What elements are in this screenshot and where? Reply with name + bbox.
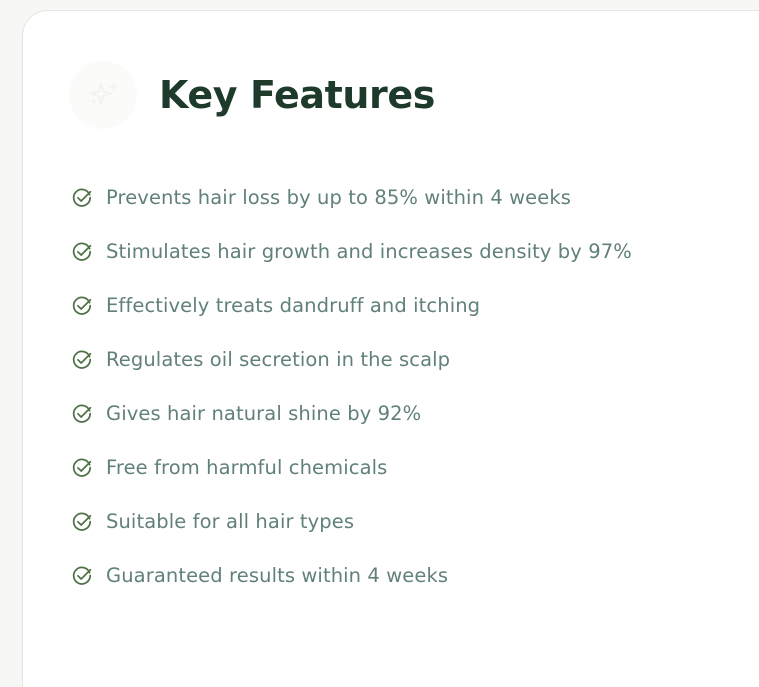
circle-check-icon (71, 565, 93, 587)
circle-check-icon (71, 187, 93, 209)
feature-text: Stimulates hair growth and increases den… (106, 240, 632, 263)
list-item: Regulates oil secretion in the scalp (71, 333, 731, 387)
list-item: Guaranteed results within 4 weeks (71, 549, 731, 603)
list-item: Effectively treats dandruff and itching (71, 279, 731, 333)
list-item: Gives hair natural shine by 92% (71, 387, 731, 441)
circle-check-icon (71, 403, 93, 425)
key-features-card: Key Features Prevents hair loss by up to… (22, 10, 759, 687)
circle-check-icon (71, 241, 93, 263)
feature-list: Prevents hair loss by up to 85% within 4… (71, 171, 731, 603)
circle-check-icon (71, 457, 93, 479)
list-item: Stimulates hair growth and increases den… (71, 225, 731, 279)
sparkle-badge (69, 61, 137, 129)
list-item: Free from harmful chemicals (71, 441, 731, 495)
feature-text: Regulates oil secretion in the scalp (106, 348, 450, 371)
feature-text: Suitable for all hair types (106, 510, 354, 533)
circle-check-icon (71, 295, 93, 317)
feature-text: Gives hair natural shine by 92% (106, 402, 421, 425)
page-root: Key Features Prevents hair loss by up to… (0, 0, 759, 687)
circle-check-icon (71, 511, 93, 533)
list-item: Suitable for all hair types (71, 495, 731, 549)
list-item: Prevents hair loss by up to 85% within 4… (71, 171, 731, 225)
page-title: Key Features (159, 76, 435, 114)
feature-text: Guaranteed results within 4 weeks (106, 564, 448, 587)
card-header: Key Features (69, 61, 435, 129)
feature-text: Prevents hair loss by up to 85% within 4… (106, 186, 571, 209)
sparkle-icon (83, 75, 123, 115)
feature-text: Effectively treats dandruff and itching (106, 294, 480, 317)
feature-text: Free from harmful chemicals (106, 456, 387, 479)
circle-check-icon (71, 349, 93, 371)
